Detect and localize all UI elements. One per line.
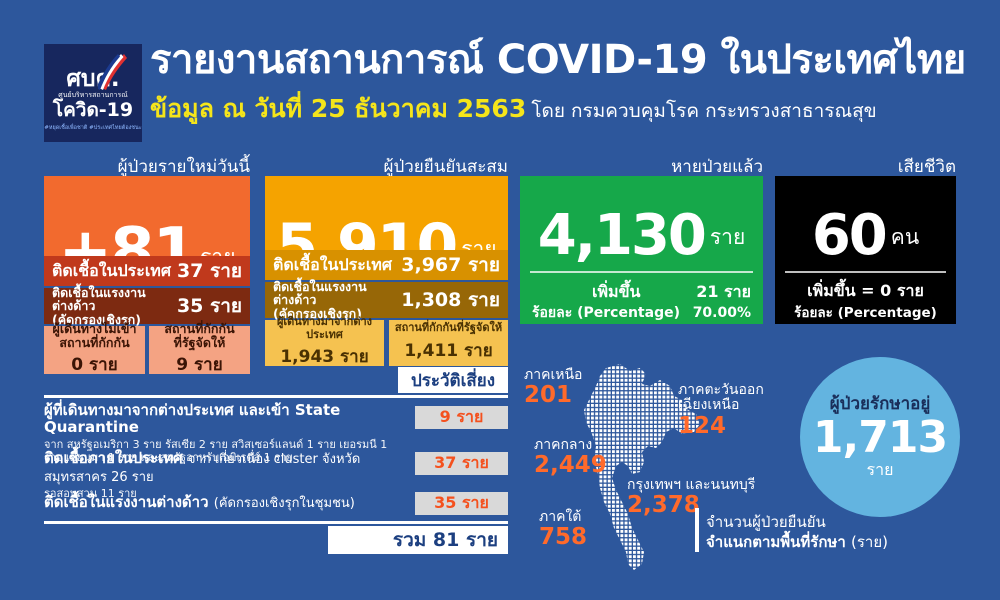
risk-row-domestic-label-bold: ติดเชื้อภายในประเทศ bbox=[44, 449, 183, 467]
cumulative-domestic-row: ติดเชื้อในประเทศ 3,967 ราย bbox=[265, 250, 508, 280]
new-cases-domestic-value: 37 ราย bbox=[177, 256, 242, 286]
cumulative-domestic-value: 3,967 ราย bbox=[401, 250, 500, 280]
region-bangkok-label: กรุงเทพฯ และนนทบุรี bbox=[627, 477, 755, 493]
subtitle-source: โดย กรมควบคุมโรค กระทรวงสาธารณสุข bbox=[531, 100, 876, 122]
map-caption-bar bbox=[695, 508, 699, 552]
cumulative-migrant-value: 1,308 ราย bbox=[401, 285, 500, 315]
region-northeast: ภาคตะวันออก เฉียงเหนือ 124 bbox=[678, 383, 764, 438]
region-bangkok: กรุงเทพฯ และนนทบุรี 2,378 bbox=[627, 478, 755, 518]
region-south-value: 758 bbox=[539, 525, 587, 549]
map-caption-line2-text: จำแนกตามพื้นที่รักษา bbox=[706, 533, 846, 551]
nq-line2: สถานที่กักกัน bbox=[59, 335, 129, 350]
treating-unit: ราย bbox=[867, 462, 894, 478]
cumulative-migrant-label-line1: ติดเชื้อในแรงงานต่างด้าว bbox=[273, 279, 367, 307]
thai-flag-ribbon-icon bbox=[98, 52, 128, 90]
risk-history-bottom-rule bbox=[44, 521, 508, 524]
recovered-unit: ราย bbox=[710, 221, 745, 262]
new-cases-migrant-value: 35 ราย bbox=[177, 291, 242, 321]
logo-hashtags: #หยุดเชื้อเพื่อชาติ #ประเทศไทยต้องชนะ bbox=[44, 124, 142, 132]
map-caption-line1: จำนวนผู้ป่วยยืนยัน bbox=[706, 513, 888, 533]
recovered-card: 4,130 ราย เพิ่มขึ้น 21 ราย ร้อยละ (Perce… bbox=[520, 176, 763, 324]
new-cases-no-quarantine-value: 0 ราย bbox=[71, 351, 117, 378]
logo-covid: โควิด-19 bbox=[53, 100, 133, 121]
cumulative-domestic-label: ติดเชื้อในประเทศ bbox=[273, 257, 392, 274]
cumulative-from-abroad-box: ผู้เดินทางมาจากต่างประเทศ 1,943 ราย bbox=[265, 320, 384, 366]
region-northeast-label1: ภาคตะวันออก bbox=[678, 382, 764, 398]
region-central: ภาคกลาง 2,449 bbox=[534, 438, 607, 478]
risk-row-domestic-value: 37 ราย bbox=[415, 452, 508, 475]
recovered-pct-label: ร้อยละ (Percentage) bbox=[532, 302, 680, 324]
cumulative-from-abroad-label: ผู้เดินทางมาจากต่างประเทศ bbox=[265, 316, 384, 341]
region-central-label: ภาคกลาง bbox=[534, 437, 592, 453]
risk-row-migrant: ติดเชื้อในแรงงานต่างด้าว (คัดกรองเชิงรุก… bbox=[44, 494, 394, 512]
new-cases-migrant-label-line1: ติดเชื้อในแรงงานต่างด้าว bbox=[52, 285, 146, 313]
subtitle-date: ข้อมูล ณ วันที่ 25 ธันวาคม 2563 bbox=[150, 94, 526, 123]
recovered-pct-row: ร้อยละ (Percentage) 70.00% bbox=[532, 302, 751, 324]
cumulative-from-abroad-value: 1,943 ราย bbox=[280, 343, 368, 370]
risk-row-migrant-label: ติดเชื้อในแรงงานต่างด้าว (คัดกรองเชิงรุก… bbox=[44, 494, 394, 512]
cumulative-state-quarantine-label: สถานที่กักกันที่รัฐจัดให้ bbox=[395, 322, 502, 334]
deaths-card: 60 คน เพิ่มขึ้น = 0 ราย ร้อยละ (Percenta… bbox=[775, 176, 956, 324]
map-caption-line2: จำแนกตามพื้นที่รักษา (ราย) bbox=[706, 533, 888, 553]
risk-row-migrant-label-bold: ติดเชื้อในแรงงานต่างด้าว bbox=[44, 493, 209, 511]
deaths-value: 60 bbox=[812, 210, 886, 262]
deaths-unit: คน bbox=[891, 221, 919, 262]
risk-row-abroad-value: 9 ราย bbox=[415, 406, 508, 429]
region-north: ภาคเหนือ 201 bbox=[524, 368, 582, 408]
region-northeast-value: 124 bbox=[678, 414, 764, 438]
new-cases-no-quarantine-label: ผู้เดินทางไม่เข้า สถานที่กักกัน bbox=[53, 322, 137, 350]
page-subtitle: ข้อมูล ณ วันที่ 25 ธันวาคม 2563 โดย กรมค… bbox=[150, 96, 877, 121]
logo-org: ศูนย์บริหารสถานการณ์ bbox=[58, 92, 128, 100]
risk-row-domestic-label: ติดเชื้อภายในประเทศ จาก เกี่ยวเนื่อง clu… bbox=[44, 450, 394, 486]
cumulative-state-quarantine-box: สถานที่กักกันที่รัฐจัดให้ 1,411 ราย bbox=[389, 320, 508, 366]
treating-value: 1,713 bbox=[813, 415, 947, 461]
cumulative-migrant-label: ติดเชื้อในแรงงานต่างด้าว (คัดกรองเชิงรุก… bbox=[273, 280, 401, 319]
cumulative-migrant-row: ติดเชื้อในแรงงานต่างด้าว (คัดกรองเชิงรุก… bbox=[265, 282, 508, 318]
risk-row-migrant-label-thin: (คัดกรองเชิงรุกในชุมชน) bbox=[214, 496, 355, 511]
new-cases-state-quarantine-label: สถานที่กักกัน ที่รัฐจัดให้ bbox=[164, 322, 234, 350]
new-cases-state-quarantine-box: สถานที่กักกัน ที่รัฐจัดให้ 9 ราย bbox=[149, 326, 250, 374]
treating-title: ผู้ป่วยรักษาอยู่ bbox=[830, 396, 931, 413]
new-cases-migrant-row: ติดเชื้อในแรงงานต่างด้าว (คัดกรองเชิงรุก… bbox=[44, 288, 250, 324]
recovered-value: 4,130 bbox=[538, 210, 705, 262]
region-south-label: ภาคใต้ bbox=[539, 509, 581, 525]
map-caption: จำนวนผู้ป่วยยืนยัน จำแนกตามพื้นที่รักษา … bbox=[706, 513, 888, 552]
new-cases-migrant-label: ติดเชื้อในแรงงานต่างด้าว (คัดกรองเชิงรุก… bbox=[52, 286, 177, 325]
deaths-divider bbox=[785, 271, 946, 273]
new-cases-state-quarantine-value: 9 ราย bbox=[176, 351, 222, 378]
region-south: ภาคใต้ 758 bbox=[539, 510, 587, 550]
risk-row-migrant-value: 35 ราย bbox=[415, 492, 508, 515]
region-north-label: ภาคเหนือ bbox=[524, 367, 582, 383]
risk-row-abroad-label: ผู้ที่เดินทางมาจากต่างประเทศ และเข้า Sta… bbox=[44, 402, 394, 437]
risk-history-tab: ประวัติเสี่ยง bbox=[398, 367, 508, 393]
risk-history-top-rule bbox=[44, 395, 508, 398]
new-cases-domestic-label: ติดเชื้อในประเทศ bbox=[52, 263, 171, 280]
sbk-logo: ศบค. ศูนย์บริหารสถานการณ์ โควิด-19 #หยุด… bbox=[44, 44, 142, 142]
deaths-pct-text: ร้อยละ (Percentage) 1.02% bbox=[775, 301, 956, 324]
recovered-pct-value: 70.00% bbox=[693, 305, 751, 321]
map-caption-unit: (ราย) bbox=[851, 533, 888, 551]
region-northeast-label2: เฉียงเหนือ bbox=[678, 397, 739, 413]
page-title: รายงานสถานการณ์ COVID-19 ในประเทศไทย bbox=[150, 40, 966, 80]
recovered-divider bbox=[530, 271, 753, 273]
new-cases-no-quarantine-box: ผู้เดินทางไม่เข้า สถานที่กักกัน 0 ราย bbox=[44, 326, 145, 374]
treating-circle: ผู้ป่วยรักษาอยู่ 1,713 ราย bbox=[800, 357, 960, 517]
new-cases-domestic-row: ติดเชื้อในประเทศ 37 ราย bbox=[44, 256, 250, 286]
risk-history-total: รวม 81 ราย bbox=[328, 526, 508, 554]
cumulative-state-quarantine-value: 1,411 ราย bbox=[404, 337, 492, 364]
sq-line2: ที่รัฐจัดให้ bbox=[174, 335, 226, 350]
infographic-root: ศบค. ศูนย์บริหารสถานการณ์ โควิด-19 #หยุด… bbox=[0, 0, 1000, 600]
region-central-value: 2,449 bbox=[534, 453, 607, 477]
region-north-value: 201 bbox=[524, 383, 582, 407]
nq-line1: ผู้เดินทางไม่เข้า bbox=[53, 321, 137, 336]
sq-line1: สถานที่กักกัน bbox=[164, 321, 234, 336]
